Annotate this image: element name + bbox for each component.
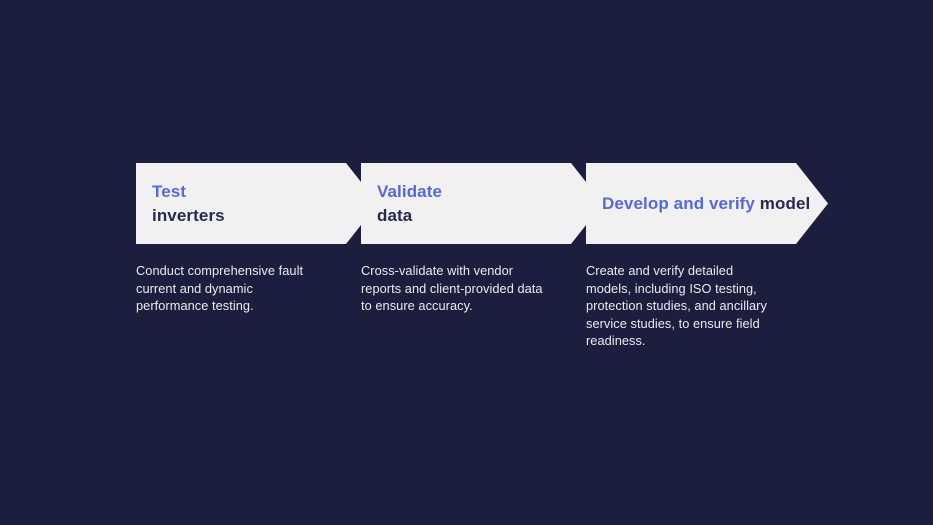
step-title-2: Validate data: [361, 180, 452, 228]
chevron-arrow-shape-2: Validate data: [361, 163, 603, 244]
chevron-arrow-shape-1: Test inverters: [136, 163, 378, 244]
process-step-1[interactable]: Test inverters Conduct comprehensive fau…: [136, 163, 361, 315]
process-step-2[interactable]: Validate data Cross-validate with vendor…: [361, 163, 586, 315]
step-title-1: Test inverters: [136, 180, 235, 228]
process-step-3[interactable]: Develop and verify model Create and veri…: [586, 163, 811, 350]
process-steps-row: Test inverters Conduct comprehensive fau…: [136, 163, 811, 350]
step-description-1: Conduct comprehensive fault current and …: [136, 262, 326, 315]
step-title-accent-3: Develop and verify: [602, 194, 755, 213]
step-title-accent-2: Validate: [377, 182, 442, 201]
step-title-plain-2: data: [377, 206, 412, 225]
step-title-3: Develop and verify model: [586, 192, 820, 216]
step-title-plain-1: inverters: [152, 206, 225, 225]
step-description-2: Cross-validate with vendor reports and c…: [361, 262, 551, 315]
step-title-plain-3: model: [760, 194, 811, 213]
chevron-arrow-shape-3: Develop and verify model: [586, 163, 828, 244]
step-description-3: Create and verify detailed models, inclu…: [586, 262, 771, 350]
slide-canvas: Test inverters Conduct comprehensive fau…: [0, 0, 933, 525]
step-title-accent-1: Test: [152, 182, 186, 201]
